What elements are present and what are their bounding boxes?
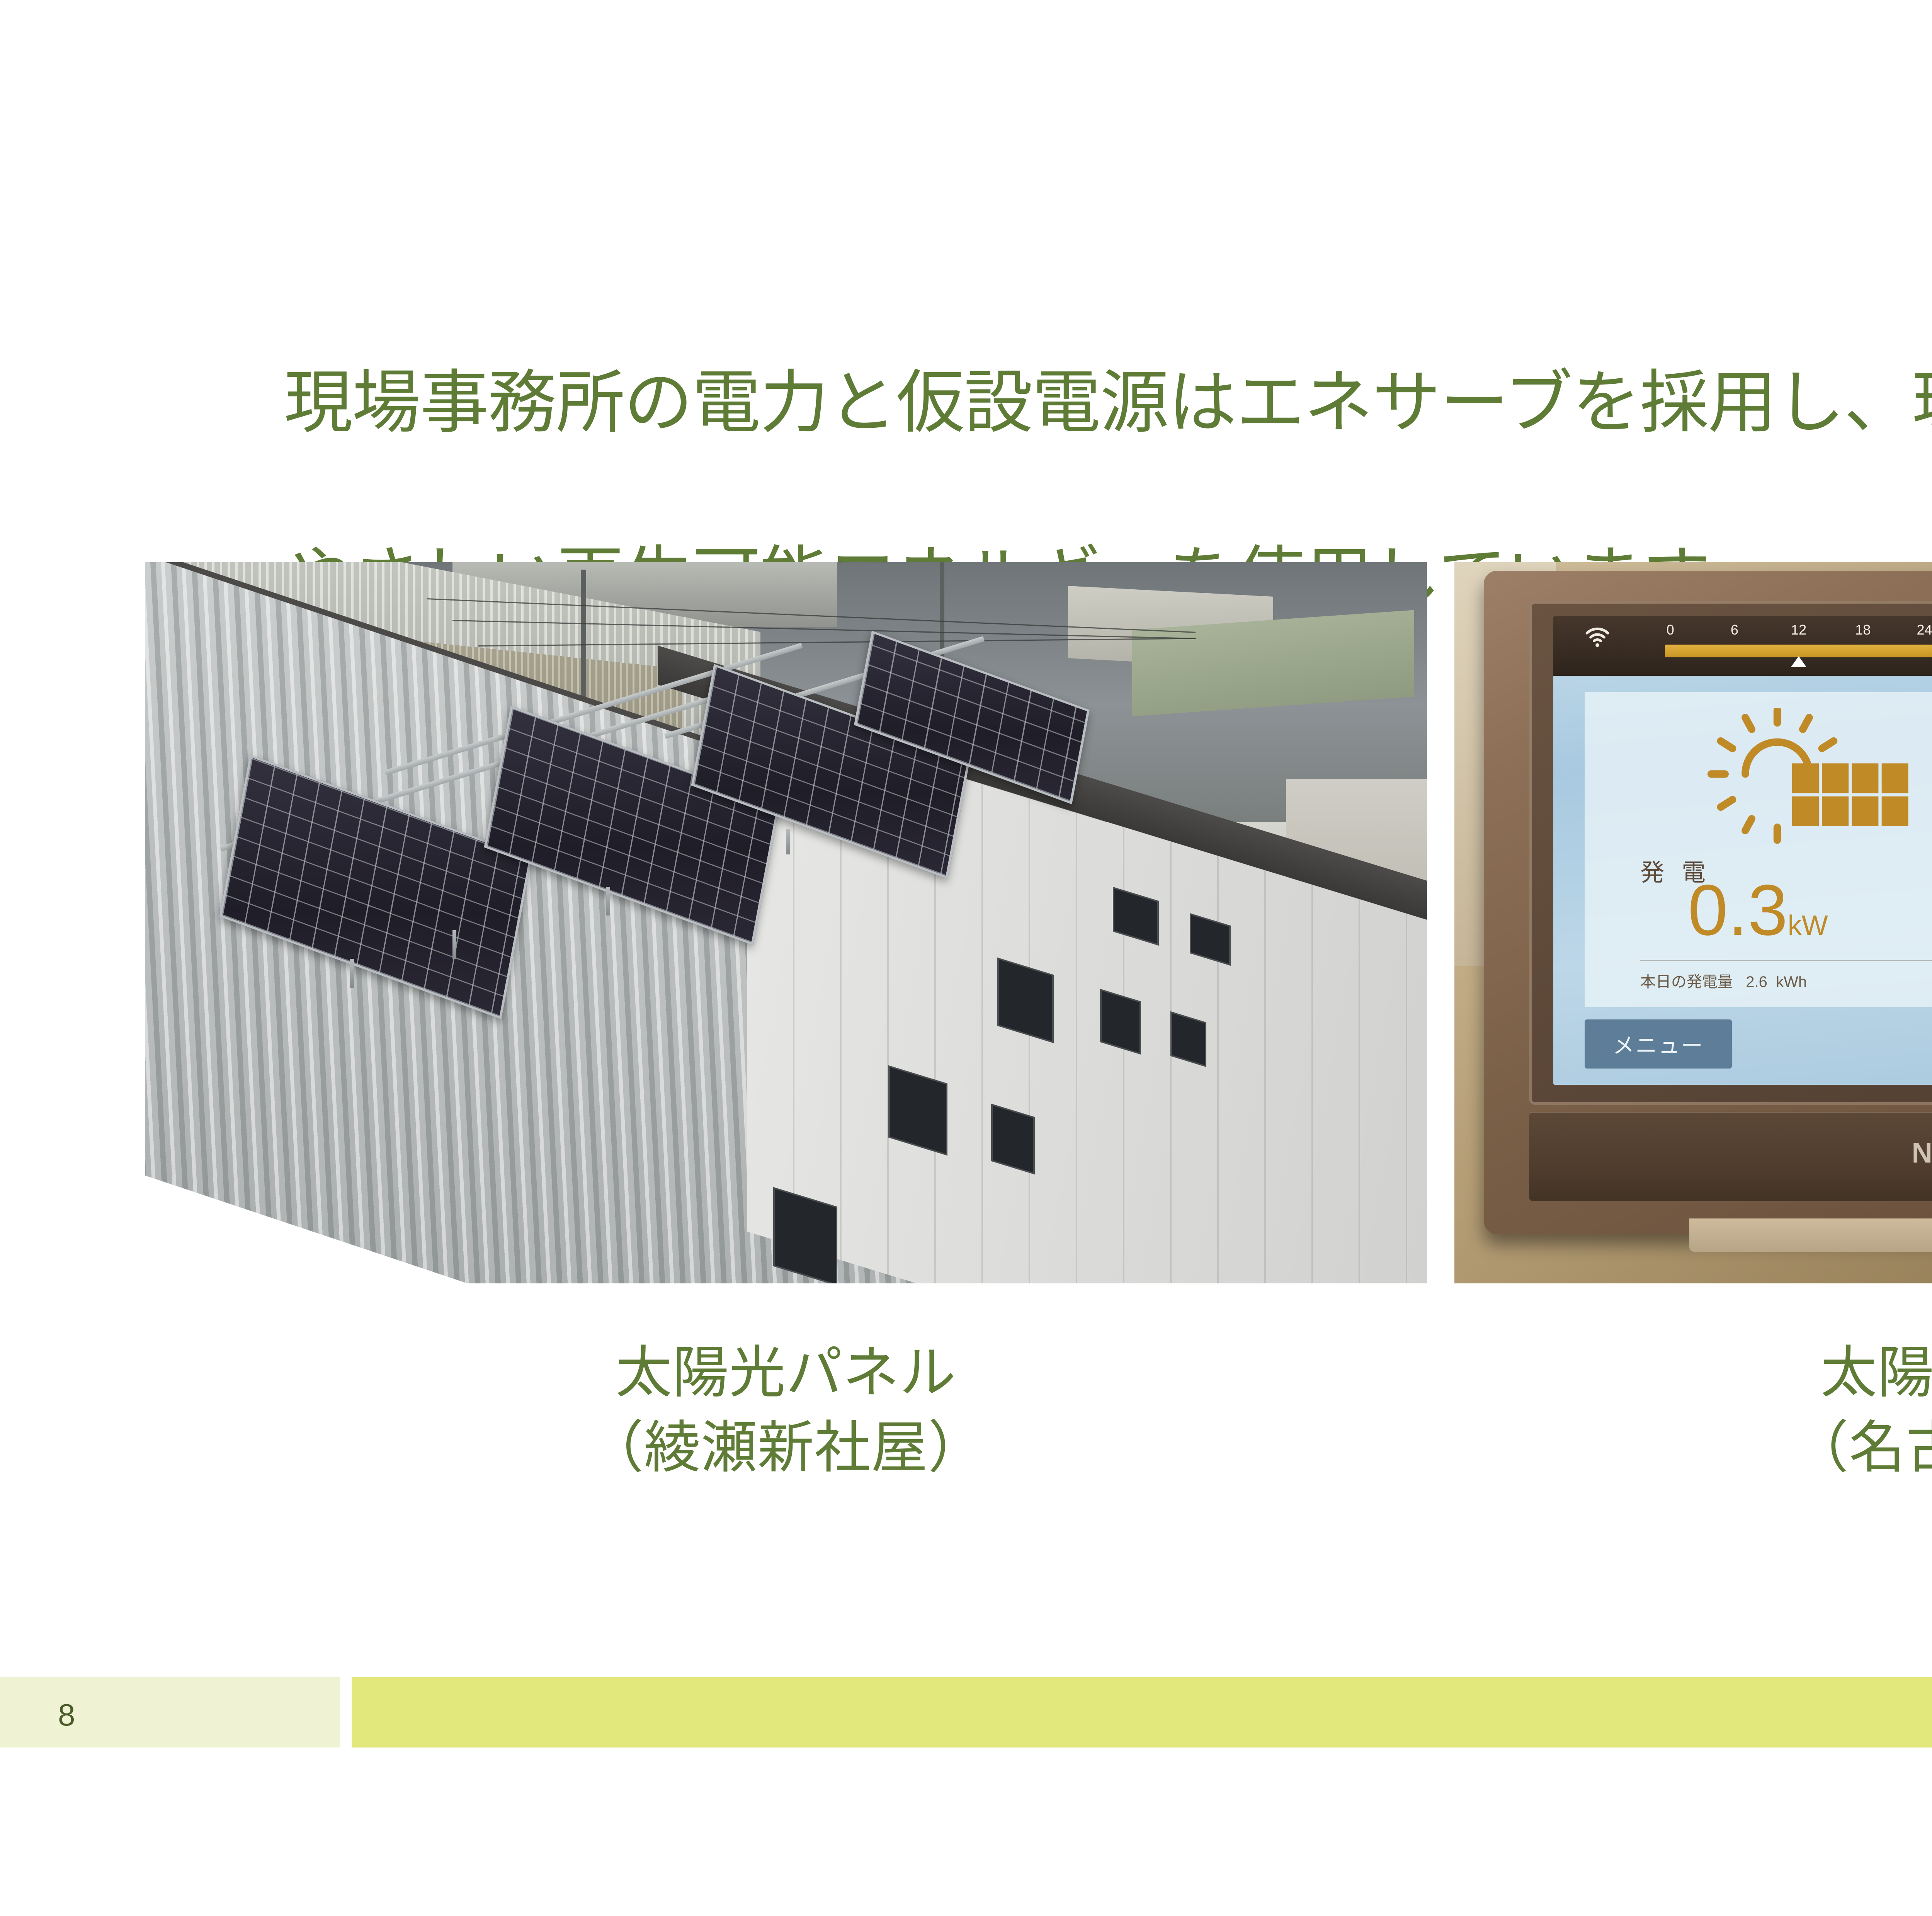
- monitor-stand: [1689, 1218, 1932, 1252]
- footer-bar-light: [0, 1677, 340, 1748]
- brand-label: Next Energy: [1912, 1137, 1932, 1169]
- page-title-line-1: 現場事務所の電力と仮設電源はエネサーブを採用し、環境に: [284, 364, 1932, 441]
- panel-support-leg: [786, 829, 790, 854]
- daylight-bar: [1665, 645, 1932, 657]
- monitor-brand-bar: Next Energy: [1529, 1112, 1932, 1201]
- tick-0: 0: [1667, 622, 1674, 638]
- generation-value: 0.3kW: [1688, 878, 1828, 943]
- monitor-main-area: 発 電 0.3kW 本日の発電量 2.6 kWh: [1553, 676, 1932, 1085]
- tick-18: 18: [1855, 622, 1871, 638]
- footer-bar-accent: [352, 1677, 1932, 1748]
- today-generation: 本日の発電量 2.6 kWh: [1640, 969, 1807, 992]
- wifi-icon: [1585, 627, 1609, 648]
- generation-number: 0.3: [1688, 870, 1788, 950]
- tick-12: 12: [1791, 622, 1806, 638]
- time-axis-ticks: 0 6 12 18 24: [1665, 622, 1932, 642]
- current-time-marker: [1791, 656, 1806, 667]
- photo-solar-panels: [145, 562, 1427, 1283]
- today-generation-label: 本日の発電量: [1640, 973, 1733, 990]
- today-generation-value: 2.6: [1746, 973, 1767, 990]
- monitor-housing: 0 6 12 18 24 2026/1/29 (木) 15:42: [1484, 571, 1932, 1234]
- page-number: 8: [58, 1697, 75, 1733]
- caption-right: 太陽光モニター （名古屋営業所）: [1454, 1335, 1932, 1485]
- tick-24: 24: [1917, 622, 1932, 638]
- caption-left: 太陽光パネル （綾瀬新社屋）: [145, 1335, 1427, 1485]
- generation-divider: [1640, 960, 1932, 961]
- monitor-status-bar: 0 6 12 18 24 2026/1/29 (木) 15:42: [1553, 616, 1932, 676]
- generation-panel[interactable]: 発 電 0.3kW 本日の発電量 2.6 kWh: [1585, 692, 1932, 1007]
- tick-6: 6: [1731, 622, 1738, 638]
- panel-support-leg: [452, 930, 456, 959]
- generation-unit: kW: [1788, 910, 1828, 941]
- panel-support-leg: [350, 959, 354, 988]
- daily-time-axis: 0 6 12 18 24: [1665, 622, 1932, 671]
- monitor-screen[interactable]: 0 6 12 18 24 2026/1/29 (木) 15:42: [1553, 616, 1932, 1085]
- menu-button[interactable]: メニュー: [1585, 1019, 1732, 1069]
- sun-solar-panel-icon: [1680, 708, 1932, 846]
- panel-support-leg: [606, 887, 610, 916]
- today-generation-unit: kWh: [1776, 973, 1807, 990]
- monitor-bezel: 0 6 12 18 24 2026/1/29 (木) 15:42: [1529, 601, 1932, 1105]
- photo-solar-monitor: 0 6 12 18 24 2026/1/29 (木) 15:42: [1454, 562, 1932, 1283]
